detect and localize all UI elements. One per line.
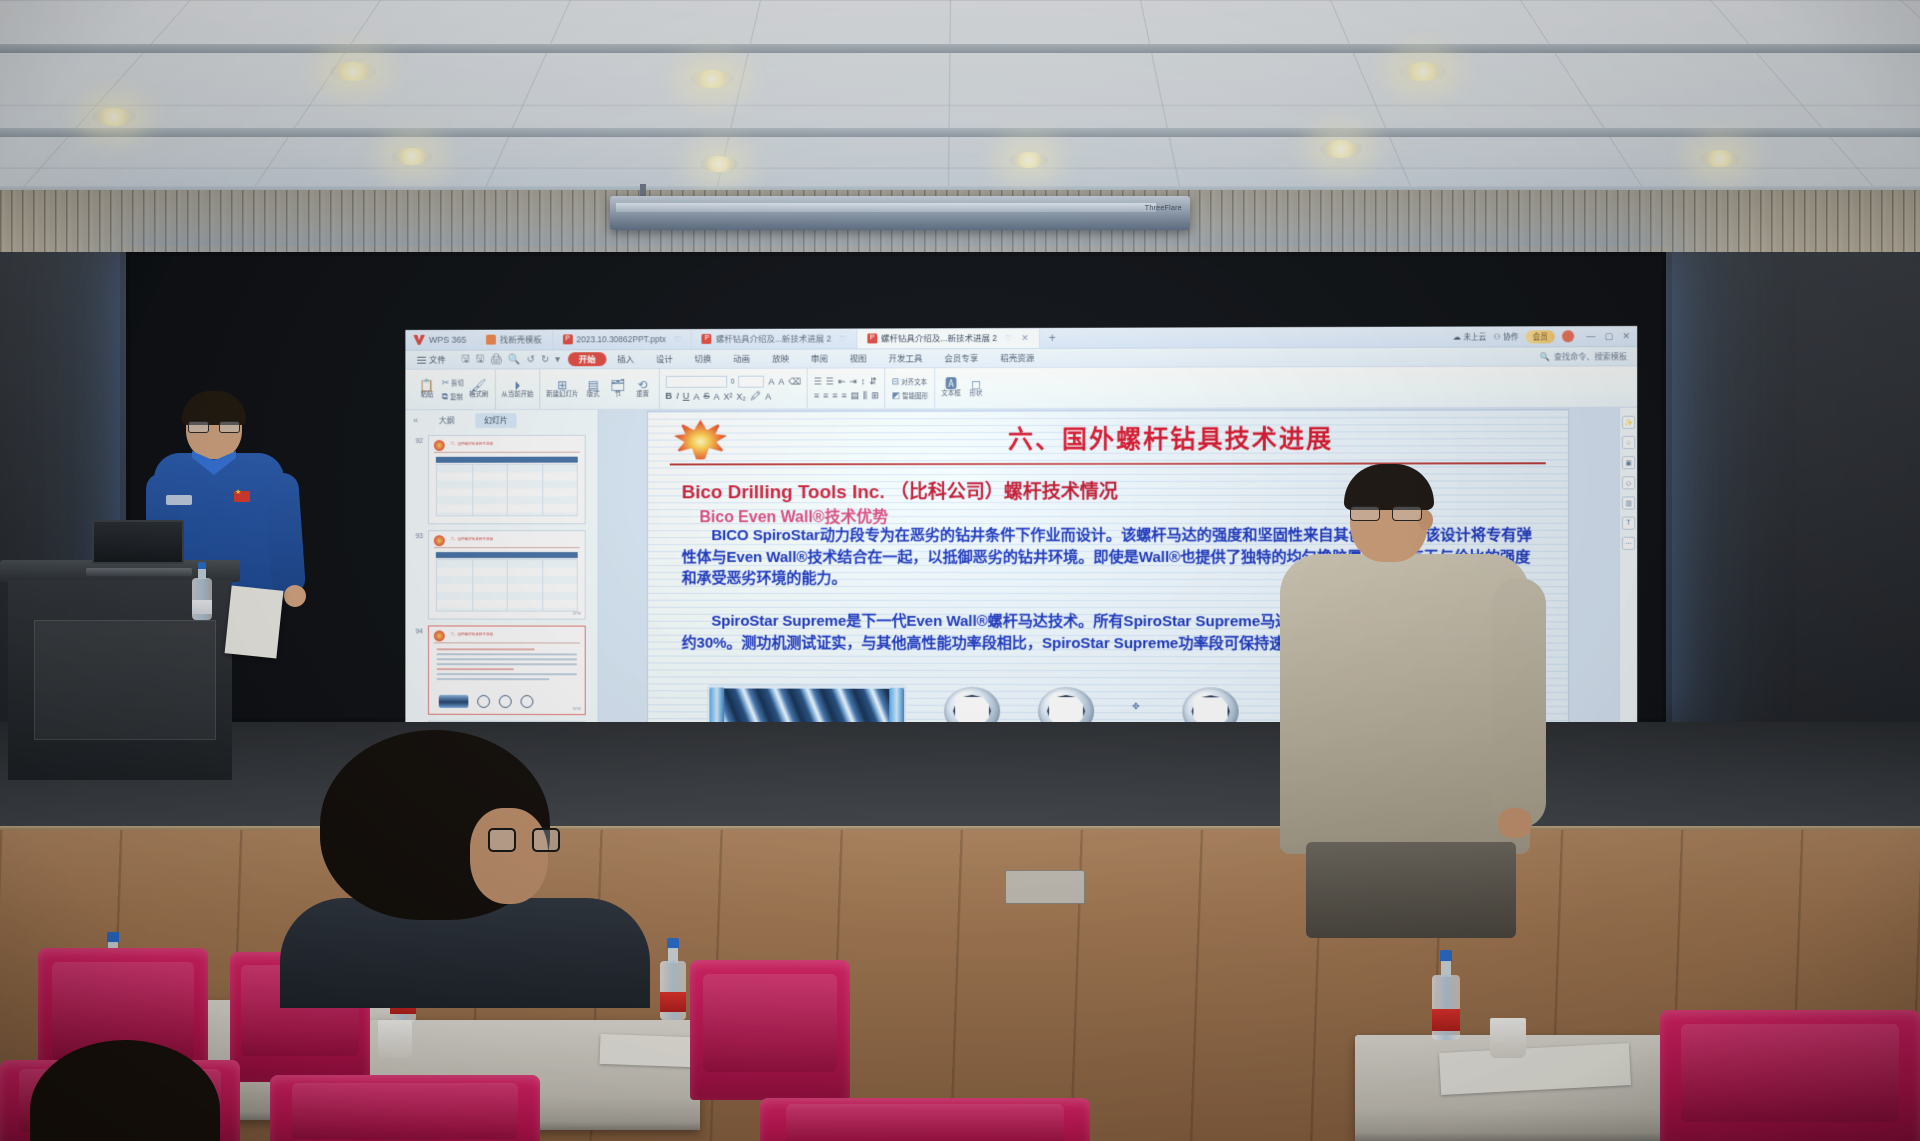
reset-label: 重置 <box>636 392 649 398</box>
textbox-button[interactable]: 🅰 文本框 <box>941 378 961 398</box>
textbox-icon: 🅰 <box>945 378 957 390</box>
attendee-glasses <box>1350 506 1422 521</box>
seated-attendee <box>320 730 660 960</box>
ceiling-light <box>690 70 734 88</box>
ribbon-tab-developer[interactable]: 开发工具 <box>877 352 933 364</box>
ribbon-tab-design[interactable]: 设计 <box>645 353 684 365</box>
numbering-icon[interactable]: ☰ <box>826 376 834 387</box>
ribbon-tab-animation[interactable]: 动画 <box>722 353 761 365</box>
collapse-pane-button[interactable]: « <box>413 415 418 425</box>
laptop-screen <box>92 520 184 564</box>
file-menu-button[interactable]: 文件 <box>409 354 453 366</box>
align-left-icon[interactable]: ≡ <box>814 390 819 400</box>
handheld-paper <box>225 585 284 658</box>
heading-english: Bico Drilling Tools Inc. <box>682 482 885 503</box>
slide-number: 93 <box>409 530 423 540</box>
list-item[interactable]: 92 六、国外螺杆钻具技术进展 <box>405 432 597 528</box>
font-color-button[interactable]: A <box>765 391 771 401</box>
align-text-button[interactable]: ⊟对齐文本 <box>892 376 928 387</box>
print-icon[interactable]: 🖨 <box>490 354 503 365</box>
document-tab-label: 螺杆钻具介绍及...新技术进展 2 <box>716 333 831 345</box>
bottle-body <box>1432 975 1460 1040</box>
smart-graphic-label: 智能图形 <box>902 390 928 400</box>
water-bottle <box>660 938 686 1020</box>
highlight-button[interactable]: 🖍 <box>750 391 761 402</box>
section-label: 节 <box>615 392 621 398</box>
avatar[interactable] <box>1562 330 1574 342</box>
title-divider <box>670 462 1546 465</box>
slides-tab[interactable]: 幻灯片 <box>475 413 516 428</box>
minimize-button[interactable]: — <box>1586 331 1595 342</box>
bottle-label <box>1432 1009 1460 1031</box>
cloud-label: 未上云 <box>1463 331 1486 342</box>
slide-title[interactable]: 六、国外螺杆钻具技术进展 <box>807 420 1538 455</box>
attendee-face <box>470 808 548 904</box>
window-controls: — ▢ ✕ <box>1581 331 1630 342</box>
projector-lens-strip <box>616 203 1156 212</box>
heading-chinese: （比科公司）螺杆技术情况 <box>890 482 1118 503</box>
grow-font-icon[interactable]: A <box>768 377 774 387</box>
more-icon[interactable]: ⋯ <box>1622 537 1635 550</box>
quick-access-toolbar: 🖫 🖫 🖨 🔍 ↺ ↻ ▾ <box>454 351 568 368</box>
list-item[interactable]: 94 六、国外螺杆钻具技术进展 BPM <box>405 622 597 718</box>
thumbnail-title: 六、国外螺杆钻具技术进展 <box>451 442 579 447</box>
align-right-icon[interactable]: ≡ <box>832 390 837 400</box>
ceiling-beam <box>0 128 1920 137</box>
slide-heading-2[interactable]: Bico Even Wall®技术优势 <box>699 503 888 527</box>
ceiling <box>0 0 1920 210</box>
character-format-row: B I U A S A X² X₂ 🖍 A <box>665 391 801 402</box>
wps-app-name: WPS 365 <box>429 335 466 345</box>
list-row: ☰ ☰ ⇤ ⇥ ↕ ⇵ <box>814 376 879 387</box>
new-tab-button[interactable]: + <box>1040 331 1065 345</box>
font-row: 0 A A ⌫ <box>665 376 801 388</box>
thumbnail-figures <box>439 695 534 708</box>
columns-icon[interactable]: ⫼ <box>863 390 867 401</box>
decrease-indent-icon[interactable]: ⇤ <box>838 376 846 387</box>
font-group: 0 A A ⌫ B I U A S A X² X₂ <box>659 369 807 409</box>
copy-icon: ⧉ <box>442 391 448 402</box>
shape-button[interactable]: ◻ 形状 <box>966 378 986 398</box>
document-tab-label: 螺杆钻具介绍及...新技术进展 2 <box>881 332 997 344</box>
document-tab-label: 找新壳模板 <box>500 334 542 346</box>
file-menu-label: 文件 <box>429 354 446 366</box>
slide-thumbnail-selected[interactable]: 六、国外螺杆钻具技术进展 BPM <box>428 625 586 715</box>
attendee-hair <box>30 1040 220 1141</box>
cnpc-logo-icon <box>434 630 445 641</box>
podium-panel <box>34 620 216 740</box>
paper-cup <box>1490 1018 1526 1058</box>
cloud-upload-button[interactable]: ☁ 未上云 <box>1453 331 1486 342</box>
text-icon[interactable]: T <box>1622 517 1635 530</box>
underline-button[interactable]: U <box>683 391 690 402</box>
ribbon-tab-view[interactable]: 视图 <box>839 352 878 364</box>
ribbon-tab-docer[interactable]: 稻壳资源 <box>989 352 1045 364</box>
paragraph-group: ☰ ☰ ⇤ ⇥ ↕ ⇵ ≡ ≡ ≡ ≡ ▤ ⫼ ⊞ <box>808 368 886 408</box>
bottle-body <box>660 961 686 1020</box>
paper-cup <box>378 1020 412 1058</box>
right-tool-rail: ✨ ☆ ▣ ◇ ▥ T ⋯ <box>1619 408 1637 769</box>
print-preview-icon[interactable]: 🔍 <box>509 354 521 365</box>
slide-number: 94 <box>409 625 423 635</box>
thumbnail-badge: BPM <box>573 707 581 711</box>
smart-art-button[interactable]: ⊞ <box>871 390 879 401</box>
bullets-icon[interactable]: ☰ <box>814 376 822 387</box>
bottle-label <box>660 992 686 1012</box>
save-icon[interactable]: 🖫 <box>461 351 469 368</box>
thumbnail-table-header <box>436 457 578 463</box>
search-placeholder: 查找命令、搜索模板 <box>1554 351 1627 362</box>
audience-seat <box>690 960 850 1100</box>
align-row: ≡ ≡ ≡ ≡ ▤ ⫼ ⊞ <box>814 390 879 401</box>
bottle-body <box>192 578 212 620</box>
clipboard-group: 📋 粘贴 ✂剪切 ⧉复制 🖌 格式刷 <box>411 369 495 409</box>
slide-thumbnail[interactable]: 六、国外螺杆钻具技术进展 <box>428 435 586 525</box>
ceiling-light <box>92 108 136 126</box>
new-slide-label: 新建幻灯片 <box>546 392 578 399</box>
attendee-legs <box>1306 842 1516 938</box>
save-as-icon[interactable]: 🖫 <box>476 351 484 368</box>
attendee-glasses <box>488 828 554 854</box>
thumbnail-table-header <box>436 552 578 558</box>
document-tab-0[interactable]: 找新壳模板 <box>476 330 552 349</box>
thumbnail-title: 六、国外螺杆钻具技术进展 <box>451 632 579 637</box>
section-icon: 🗂 <box>610 379 625 391</box>
ribbon-tab-transition[interactable]: 切换 <box>684 353 723 365</box>
ribbon-tab-slideshow[interactable]: 放映 <box>761 353 800 365</box>
thumbnail-list[interactable]: 92 六、国外螺杆钻具技术进展 93 <box>405 430 597 766</box>
wps-logo-icon <box>413 335 425 345</box>
ceiling-light <box>1010 152 1048 168</box>
thumbnail-text-lines <box>437 648 577 683</box>
document-tab-label: 2023.10.30862PPT.pptx <box>576 334 666 344</box>
cut-button[interactable]: ✂剪切 <box>442 377 464 388</box>
favorite-icon[interactable]: ♡ <box>674 335 681 344</box>
thumbnail-rule <box>434 642 580 643</box>
ppt-icon: P <box>563 334 573 344</box>
textbox-label: 文本框 <box>941 391 960 398</box>
search-icon: 🔍 <box>1540 352 1550 361</box>
smart-art-row-button[interactable]: ◩智能图形 <box>892 390 928 401</box>
laptop-base <box>86 568 192 576</box>
align-text-label: 对齐文本 <box>901 376 927 386</box>
ceiling-light <box>392 148 432 165</box>
layout-button[interactable]: ▤ 版式 <box>583 379 603 398</box>
subscript-button[interactable]: X₂ <box>736 391 745 401</box>
screen-side-panel-right <box>1662 252 1920 722</box>
presenter-shirt-logo <box>166 495 192 505</box>
text-direction-icon[interactable]: ⇵ <box>869 376 877 387</box>
insert-group: ⊟对齐文本 ◩智能图形 <box>886 368 935 408</box>
chart-icon[interactable]: ▥ <box>1622 496 1635 509</box>
slide-number: 92 <box>409 435 423 445</box>
shape-icon: ◻ <box>971 378 981 390</box>
cnpc-logo-icon <box>674 420 728 460</box>
presenter-hand <box>284 585 306 607</box>
customize-qat-icon[interactable]: ▾ <box>555 354 560 365</box>
shadow-button[interactable]: A <box>693 391 699 401</box>
close-button[interactable]: ✕ <box>1622 331 1630 342</box>
slideshow-group: ⏵ 从当前开始 <box>495 369 540 409</box>
format-painter-button[interactable]: 🖌 格式刷 <box>469 380 489 399</box>
cut-icon: ✂ <box>442 377 449 388</box>
list-item[interactable]: 93 六、国外螺杆钻具技术进展 BPM <box>405 527 597 622</box>
ceiling-light <box>700 156 738 172</box>
format-painter-label: 格式刷 <box>469 393 488 399</box>
attendee-hand <box>1498 808 1532 838</box>
ribbon-toolbar: 📋 粘贴 ✂剪切 ⧉复制 🖌 格式刷 ⏵ 从当前开始 <box>405 366 1637 410</box>
attendee-hair <box>1344 464 1434 510</box>
share-label: 协作 <box>1503 331 1518 342</box>
projector-brand-label: ThreeFlare <box>1145 205 1182 212</box>
shape-label: 形状 <box>970 391 983 398</box>
cnpc-logo-icon <box>434 440 445 451</box>
line-spacing-icon[interactable]: ↕ <box>861 376 865 386</box>
shrink-font-icon[interactable]: A <box>778 377 784 387</box>
textbox-shape-group: 🅰 文本框 ◻ 形状 <box>935 368 992 408</box>
thumbnail-rule <box>434 547 580 548</box>
new-slide-icon: ⊞ <box>557 379 567 391</box>
undo-icon[interactable]: ↺ <box>527 354 535 365</box>
ceiling-light <box>1400 62 1446 81</box>
section-button[interactable]: 🗂 节 <box>608 379 628 398</box>
water-bottle <box>1432 950 1460 1040</box>
wall-outlet <box>1005 870 1085 904</box>
format-painter-icon: 🖌 <box>471 380 486 392</box>
shape-icon[interactable]: ◇ <box>1622 476 1635 489</box>
distribute-icon[interactable]: ▤ <box>851 390 859 401</box>
ribbon-tab-review[interactable]: 审阅 <box>800 353 839 365</box>
wps-logo: WPS 365 <box>405 335 476 345</box>
play-circle-icon: ⏵ <box>514 380 520 392</box>
smart-graphic-icon: ◩ <box>892 390 900 401</box>
redo-icon[interactable]: ↻ <box>541 354 549 365</box>
mouse-cursor-icon: ✥ <box>1132 701 1140 712</box>
align-center-icon[interactable]: ≡ <box>823 390 828 400</box>
stage-floor <box>0 722 1920 842</box>
slide-navigator: « 大纲 幻灯片 92 六、国外螺杆钻具技术进展 <box>405 410 598 766</box>
image-icon[interactable]: ▣ <box>1622 456 1635 469</box>
paste-label: 粘贴 <box>421 393 434 399</box>
ribbon-tab-member[interactable]: 会员专享 <box>933 352 989 364</box>
audience-seat <box>1660 1010 1920 1141</box>
slide-thumbnail[interactable]: 六、国外螺杆钻具技术进展 BPM <box>428 530 586 619</box>
reset-icon: ⟲ <box>638 379 648 391</box>
vip-badge[interactable]: 会员 <box>1525 330 1554 343</box>
paste-button[interactable]: 📋 粘贴 <box>417 380 437 399</box>
outline-tab[interactable]: 大纲 <box>430 413 463 428</box>
layout-label: 版式 <box>587 392 600 398</box>
laptop <box>86 520 192 576</box>
bold-button[interactable]: B <box>665 391 672 402</box>
char-border-button[interactable]: A <box>714 391 720 401</box>
wps-title-bar: WPS 365 找新壳模板 P 2023.10.30862PPT.pptx ♡ … <box>405 326 1637 351</box>
audience-seat <box>270 1075 540 1141</box>
menu-icon <box>417 354 426 365</box>
paste-icon: 📋 <box>420 380 435 392</box>
ribbon-tab-insert[interactable]: 插入 <box>607 353 646 365</box>
thumbnail-rule <box>434 452 580 453</box>
standing-attendee <box>1290 470 1540 930</box>
attendee-arm <box>1492 578 1546 828</box>
cnpc-logo-icon <box>434 535 445 546</box>
justify-icon[interactable]: ≡ <box>841 390 846 400</box>
document-tab-1[interactable]: P 2023.10.30862PPT.pptx ♡ <box>553 330 692 349</box>
lecture-hall-scene: ThreeFlare WPS 365 找新壳模板 P 2023.10.30862… <box>0 0 1920 1141</box>
ai-icon[interactable]: ✨ <box>1622 416 1635 429</box>
ceiling-beam <box>0 44 1920 53</box>
favorite-icon[interactable]: ♡ <box>839 334 846 343</box>
italic-button[interactable]: I <box>676 391 679 402</box>
clear-format-icon[interactable]: ⌫ <box>788 376 801 387</box>
superscript-button[interactable]: X² <box>724 391 733 401</box>
presenter-glasses <box>188 421 240 433</box>
ceiling-light <box>330 62 376 81</box>
navigator-header: « 大纲 幻灯片 <box>405 410 597 430</box>
layout-icon: ▤ <box>588 379 599 391</box>
font-size-value[interactable]: 0 <box>731 378 735 385</box>
ppt-icon: P <box>702 334 712 344</box>
reset-button[interactable]: ⟲ 重置 <box>633 379 653 398</box>
maximize-button[interactable]: ▢ <box>1605 331 1614 342</box>
cut-label: 剪切 <box>451 377 464 387</box>
projector-light-bar: ThreeFlare <box>610 196 1190 230</box>
close-tab-icon[interactable]: ✕ <box>1021 332 1029 343</box>
collaborate-button[interactable]: ⚇ 协作 <box>1493 331 1518 342</box>
font-family-input[interactable] <box>665 376 726 388</box>
strikethrough-button[interactable]: S <box>703 391 709 402</box>
document-tab-2[interactable]: P 螺杆钻具介绍及...新技术进展 2 ♡ <box>692 329 857 348</box>
document-tab-3[interactable]: P 螺杆钻具介绍及...新技术进展 2 ♡ ✕ <box>857 328 1040 348</box>
star-icon[interactable]: ☆ <box>1622 436 1635 449</box>
seated-attendee-partial <box>30 1040 240 1141</box>
thumbnail-table <box>436 559 578 612</box>
slides-group: ⊞ 新建幻灯片 ▤ 版式 🗂 节 ⟲ 重置 <box>540 369 659 409</box>
thumbnail-title: 六、国外螺杆钻具技术进展 <box>451 537 579 542</box>
presenter-hair <box>182 391 246 425</box>
presenter-flag-badge <box>234 491 250 502</box>
bottle-label <box>192 600 212 614</box>
favorite-icon[interactable]: ♡ <box>1005 334 1012 343</box>
thumbnail-badge: BPM <box>573 612 581 616</box>
slide-heading-1[interactable]: Bico Drilling Tools Inc. （比科公司）螺杆技术情况 <box>682 477 1118 504</box>
increase-indent-icon[interactable]: ⇥ <box>849 376 857 387</box>
template-icon <box>486 335 496 345</box>
ceiling-light <box>1320 140 1362 158</box>
copy-label: 复制 <box>450 391 463 401</box>
water-bottle <box>192 562 212 620</box>
audience-seat <box>760 1098 1090 1141</box>
start-from-current-button[interactable]: ⏵ 从当前开始 <box>501 379 533 398</box>
ppt-icon: P <box>867 333 877 343</box>
align-text-icon: ⊟ <box>892 376 900 387</box>
ribbon-tab-home[interactable]: 开始 <box>568 352 607 366</box>
thumbnail-table <box>436 464 578 517</box>
ceiling-light <box>1700 150 1740 167</box>
font-size-input[interactable] <box>739 376 765 388</box>
new-slide-button[interactable]: ⊞ 新建幻灯片 <box>546 379 578 398</box>
ribbon-search[interactable]: 🔍 查找命令、搜索模板 <box>1540 351 1637 362</box>
copy-button[interactable]: ⧉复制 <box>442 391 464 402</box>
title-bar-actions: ☁ 未上云 ⚇ 协作 会员 — ▢ ✕ <box>1453 330 1637 344</box>
start-from-current-label: 从当前开始 <box>501 392 533 399</box>
